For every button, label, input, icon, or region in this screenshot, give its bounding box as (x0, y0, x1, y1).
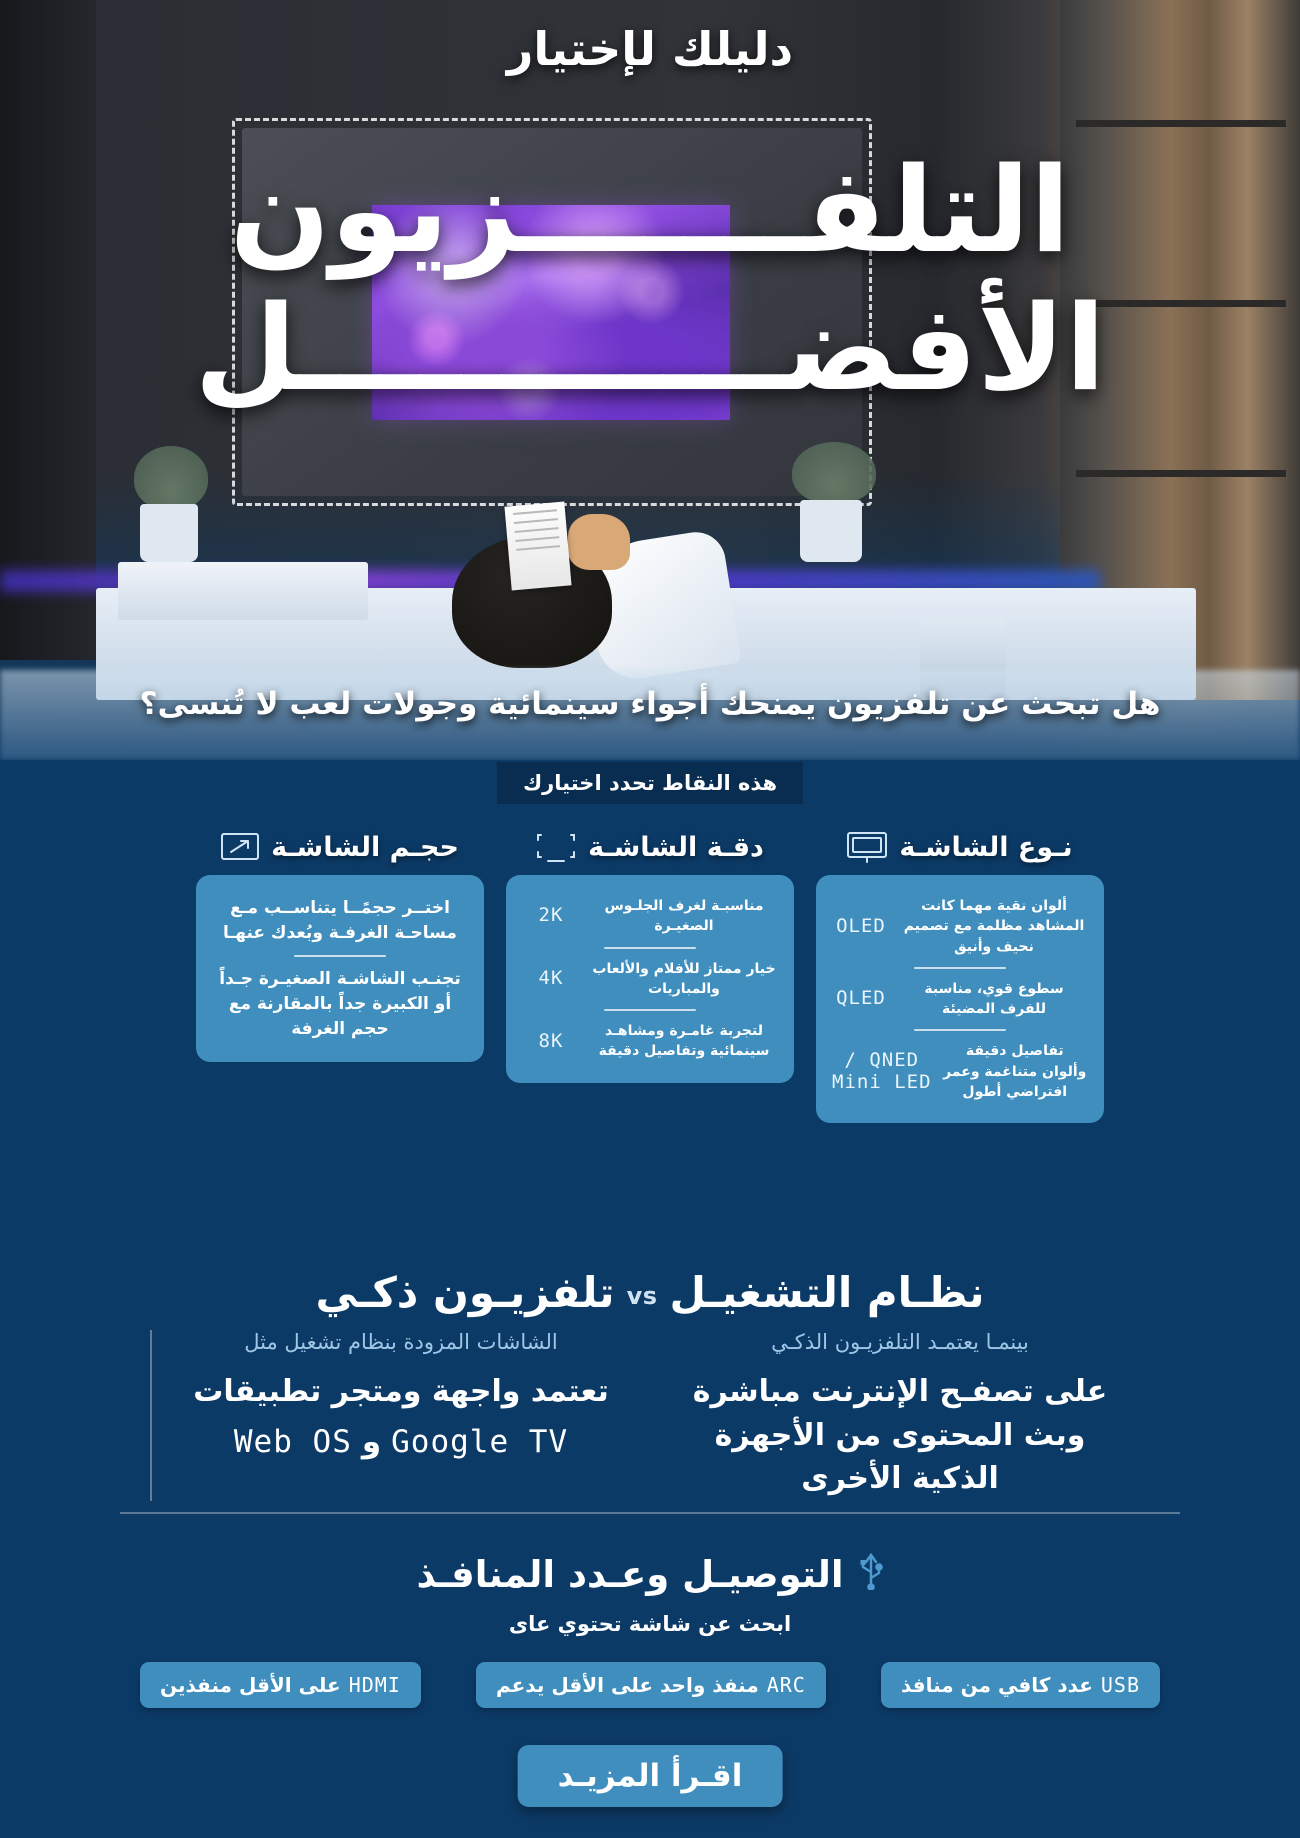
os-section-title: نظـام التشغيـلvsتلفزيـون ذكـي (0, 1268, 1300, 1317)
port-pill-text: عدد كافي من منافذ (901, 1673, 1093, 1697)
card-screen-size-body: اختــر حجمًــا يتناســب مـع مساحـة الغرف… (196, 875, 484, 1062)
port-pill-arc[interactable]: منفذ واحد على الأقل يدعم ARC (476, 1662, 826, 1708)
receipt-paper (504, 502, 571, 591)
hero-title-line1: التلفـــــــزيون (0, 150, 1300, 270)
card-row: اختــر حجمًــا يتناســب مـع مساحـة الغرف… (210, 889, 470, 952)
card-row-desc: اختــر حجمًــا يتناســب مـع مساحـة الغرف… (212, 896, 468, 945)
person-hand (568, 514, 630, 570)
card-row-desc: تجنـب الشاشـة الصغيـرة جـداً أو الكبيرة … (212, 967, 468, 1041)
card-screen-resolution-header: دقـة الشاشـة (506, 832, 794, 863)
card-row: 2K مناسبـة لغرف الجلـوس الصغيـرة (520, 889, 780, 944)
card-row: QLED سطوع قوي، مناسبة للفرف المضيئة (830, 972, 1090, 1027)
hero-kicker: دليلك لإختيار (0, 22, 1300, 76)
card-row: 4K خيار ممتاز للأفلام والألعاب والمباريا… (520, 952, 780, 1007)
card-row-desc: ألوان نقية مهما كانت المشاهد مظلمة مع تص… (900, 896, 1088, 957)
usb-icon (858, 1550, 884, 1599)
os-right-main: تعتمد واجهة ومتجر تطبيقات (188, 1370, 614, 1414)
shelf-line (1076, 470, 1286, 477)
ports-subtitle: ابحث عن شاشة تحتوي عاى (0, 1612, 1300, 1636)
brand-google-tv: Google TV (391, 1424, 568, 1460)
resolution-tag: 4K (522, 968, 580, 990)
os-title-left: تلفزيـون ذكـي (316, 1268, 615, 1317)
os-left-main: على تصفـح الإنترنت مباشرة وبث المحتوى من… (686, 1370, 1114, 1501)
port-pill-mono: ARC (767, 1673, 806, 1697)
os-comparison: الشاشات المزودة بنظام تشغيل مثل تعتمد وا… (150, 1330, 1150, 1501)
card-screen-size: حجـم الشاشـة اختــر حجمًــا يتناســب مـع… (196, 832, 484, 1123)
plant-pot-right (800, 500, 862, 562)
row-separator (914, 1029, 1006, 1031)
card-screen-type-header: نـوع الشاشـة (816, 832, 1104, 863)
os-right-lead: الشاشات المزودة بنظام تشغيل مثل (188, 1330, 614, 1354)
os-title-right: نظـام التشغيـل (670, 1268, 985, 1317)
port-pill-mono: HDMI (349, 1673, 401, 1697)
card-row-desc: خيار ممتاز للأفلام والألعاب والمباريات (590, 959, 778, 1000)
port-pill-usb[interactable]: عدد كافي من منافذ USB (881, 1662, 1160, 1708)
card-row: QNED / Mini LED تفاصيل دقيقة وألوان متنا… (830, 1034, 1090, 1109)
feature-cards: حجـم الشاشـة اختــر حجمًــا يتناســب مـع… (0, 832, 1300, 1123)
card-screen-resolution-title: دقـة الشاشـة (588, 832, 764, 863)
port-pill-text: على الأقل منفذين (160, 1673, 341, 1697)
os-column-smart-tv: بينمـا يعتمـد التلفزيـون الذكـي على تصفـ… (650, 1330, 1150, 1501)
card-screen-type: نـوع الشاشـة OLED ألوان نقية مهما كانت ا… (816, 832, 1104, 1123)
ports-title-text: التوصيـل وعـدد المنافـذ (416, 1553, 843, 1596)
card-row-desc: سطوع قوي، مناسبة للفرف المضيئة (900, 979, 1088, 1020)
read-more-button[interactable]: اقـرأ المزيـد (518, 1745, 783, 1807)
card-screen-size-header: حجـم الشاشـة (196, 832, 484, 863)
port-pill-hdmi[interactable]: على الأقل منفذين HDMI (140, 1662, 421, 1708)
shelf-line (1076, 120, 1286, 127)
card-screen-type-title: نـوع الشاشـة (899, 832, 1072, 863)
os-title-vs: vs (627, 1282, 658, 1310)
section-divider (120, 1512, 1180, 1514)
port-pill-text: منفذ واحد على الأقل يدعم (496, 1673, 759, 1697)
brand-web-os: Web OS (234, 1424, 352, 1460)
card-row-desc: لتجربة غامـرة ومشاهـد سينمائية وتفاصيل د… (590, 1021, 778, 1062)
plant-leaves-right (792, 442, 876, 504)
panel-type-tag: QNED / Mini LED (832, 1050, 932, 1094)
card-screen-resolution-body: 2K مناسبـة لغرف الجلـوس الصغيـرة 4K خيار… (506, 875, 794, 1083)
plant-pot-left (140, 504, 198, 562)
os-right-brands: Google TVوWeb OS (188, 1424, 614, 1460)
brand-joiner: و (362, 1424, 381, 1460)
intro-subtag: هذه النقاط تحدد اختيارك (497, 762, 803, 804)
row-separator (294, 955, 386, 957)
card-row: OLED ألوان نقية مهما كانت المشاهد مظلمة … (830, 889, 1090, 964)
resolution-tag: 2K (522, 905, 580, 927)
row-separator (604, 947, 696, 949)
panel-type-tag: QLED (832, 988, 890, 1010)
card-screen-resolution: دقـة الشاشـة 2K مناسبـة لغرف الجلـوس الص… (506, 832, 794, 1123)
screen-resolution-icon (536, 833, 576, 863)
card-row: تجنـب الشاشـة الصغيـرة جـداً أو الكبيرة … (210, 960, 470, 1048)
card-row-desc: تفاصيل دقيقة وألوان متناغمة وعمر افتراضي… (942, 1041, 1088, 1102)
plant-leaves-left (134, 446, 208, 510)
row-separator (604, 1009, 696, 1011)
screen-type-icon (847, 832, 887, 863)
os-column-operating-system: الشاشات المزودة بنظام تشغيل مثل تعتمد وا… (150, 1330, 650, 1501)
row-separator (914, 967, 1006, 969)
card-row: 8K لتجربة غامـرة ومشاهـد سينمائية وتفاصي… (520, 1014, 780, 1069)
screen-size-icon (221, 833, 259, 863)
hero-title-line2: الأفضــــــــــــل (0, 288, 1300, 408)
ports-section-title: التوصيـل وعـدد المنافـذ (0, 1550, 1300, 1599)
card-screen-size-title: حجـم الشاشـة (271, 832, 459, 863)
port-pill-mono: USB (1101, 1673, 1140, 1697)
ports-pill-list: على الأقل منفذين HDMI منفذ واحد على الأق… (140, 1662, 1160, 1708)
panel-type-tag: OLED (832, 916, 890, 938)
card-row-desc: مناسبـة لغرف الجلـوس الصغيـرة (590, 896, 778, 937)
side-table (118, 562, 368, 620)
intro-question: هل تبحث عن تلفزيون يمنحك أجواء سينمائية … (0, 686, 1300, 722)
os-left-lead: بينمـا يعتمـد التلفزيـون الذكـي (686, 1330, 1114, 1354)
resolution-tag: 8K (522, 1031, 580, 1053)
card-screen-type-body: OLED ألوان نقية مهما كانت المشاهد مظلمة … (816, 875, 1104, 1123)
